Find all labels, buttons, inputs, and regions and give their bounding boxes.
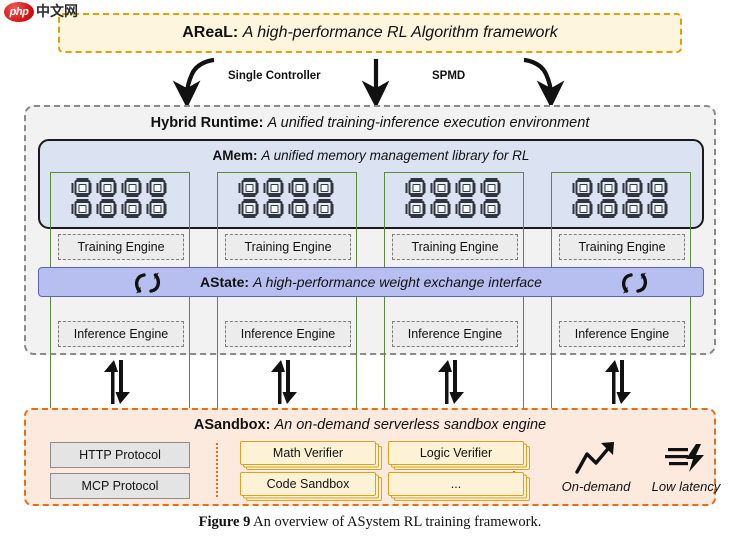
gpu-chip-icon [97, 178, 119, 197]
figure-caption: Figure 9 An overview of ASystem RL train… [0, 514, 740, 531]
on-demand-label: On-demand [548, 479, 644, 494]
amem-desc: A unified memory management library for … [261, 148, 529, 163]
gpu-chip-icon [406, 199, 428, 218]
chip-grid [72, 178, 169, 218]
bidirectional-vertical-arrows-icon [603, 360, 633, 404]
circular-sync-arrows-icon [614, 266, 656, 300]
inference-engine-box: Inference Engine [392, 321, 518, 347]
code-sandbox-label: Code Sandbox [240, 472, 376, 496]
asandbox-box: ASandbox: An on-demand serverless sandbo… [24, 408, 716, 506]
training-engine-box: Training Engine [559, 234, 685, 260]
spmd-label: SPMD [432, 70, 465, 82]
bidirectional-vertical-arrows-icon [269, 360, 299, 404]
gpu-chip-icon [239, 178, 261, 197]
areal-desc: A high-performance RL Algorithm framewor… [243, 24, 558, 41]
astate-desc: A high-performance weight exchange inter… [253, 274, 542, 290]
gpu-chip-icon [72, 199, 94, 218]
areal-framework-box: AReaL: A high-performance RL Algorithm f… [58, 13, 682, 53]
http-protocol-box: HTTP Protocol [50, 442, 190, 468]
site-name-label: 中文网 [36, 5, 78, 19]
gpu-chip-icon [147, 178, 169, 197]
bidirectional-vertical-arrows-icon [102, 360, 132, 404]
chip-grid [406, 178, 503, 218]
areal-name: AReaL: [182, 24, 238, 41]
math-verifier-label: Math Verifier [240, 441, 376, 465]
inference-engine-box: Inference Engine [58, 321, 184, 347]
more-verifiers-card: ... [388, 472, 528, 500]
inference-engine-box: Inference Engine [225, 321, 351, 347]
areal-title: AReaL: A high-performance RL Algorithm f… [182, 24, 558, 42]
gpu-chip-icon [456, 178, 478, 197]
gpu-chip-icon [598, 199, 620, 218]
math-verifier-card: Math Verifier [240, 441, 380, 469]
hybrid-runtime-title: Hybrid Runtime: A unified training-infer… [26, 115, 714, 131]
gpu-chip-icon [72, 178, 94, 197]
training-engine-box: Training Engine [225, 234, 351, 260]
hybrid-runtime-box: Hybrid Runtime: A unified training-infer… [24, 105, 716, 355]
hybrid-runtime-desc: A unified training-inference execution e… [267, 115, 589, 131]
inference-engine-box: Inference Engine [559, 321, 685, 347]
gpu-chip-icon [481, 178, 503, 197]
asandbox-name: ASandbox: [194, 417, 271, 433]
gpu-chip-icon [648, 199, 670, 218]
gpu-chip-icon [314, 199, 336, 218]
gpu-chip-icon [623, 178, 645, 197]
astate-bar: AState: A high-performance weight exchan… [38, 267, 704, 297]
low-latency-label: Low latency [638, 479, 734, 494]
low-latency-feature: Low latency [638, 440, 734, 494]
gpu-chip-icon [289, 178, 311, 197]
gpu-chip-icon [431, 199, 453, 218]
gpu-chip-icon [264, 199, 286, 218]
on-demand-feature: On-demand [548, 440, 644, 494]
bidirectional-vertical-arrows-icon [436, 360, 466, 404]
gpu-chip-icon [573, 178, 595, 197]
code-sandbox-card: Code Sandbox [240, 472, 380, 500]
figure-caption-text: An overview of ASystem RL training frame… [253, 514, 541, 530]
gpu-chip-icon [481, 199, 503, 218]
logic-verifier-label: Logic Verifier [388, 441, 524, 465]
single-controller-label: Single Controller [228, 70, 321, 82]
circular-sync-arrows-icon [127, 266, 169, 300]
gpu-chip-icon [573, 199, 595, 218]
figure-root: php 中文网 AReaL: A high-performance RL Alg… [0, 0, 740, 549]
amem-name: AMem: [213, 148, 258, 163]
gpu-chip-icon [122, 199, 144, 218]
trending-up-arrow-icon [548, 440, 644, 476]
gpu-chip-icon [97, 199, 119, 218]
astate-title: AState: A high-performance weight exchan… [200, 274, 542, 290]
asandbox-title: ASandbox: An on-demand serverless sandbo… [26, 417, 714, 433]
astate-name: AState: [200, 274, 249, 290]
training-engine-box: Training Engine [392, 234, 518, 260]
gpu-chip-icon [122, 178, 144, 197]
mcp-protocol-box: MCP Protocol [50, 473, 190, 499]
curved-arrow-down-left-icon [187, 60, 214, 94]
curved-arrow-down-right-icon [524, 60, 551, 94]
gpu-chip-icon [406, 178, 428, 197]
site-watermark: php 中文网 [4, 2, 78, 22]
chip-grid [239, 178, 336, 218]
amem-title: AMem: A unified memory management librar… [40, 148, 702, 163]
hybrid-runtime-name: Hybrid Runtime: [151, 115, 264, 131]
section-divider-left [216, 443, 218, 497]
logic-verifier-card: Logic Verifier [388, 441, 528, 469]
gpu-chip-icon [289, 199, 311, 218]
gpu-chip-icon [598, 178, 620, 197]
training-engine-box: Training Engine [58, 234, 184, 260]
php-logo-icon: php [4, 2, 34, 22]
gpu-chip-icon [314, 178, 336, 197]
gpu-chip-icon [623, 199, 645, 218]
chip-grid [573, 178, 670, 218]
asandbox-desc: An on-demand serverless sandbox engine [274, 417, 546, 433]
more-verifiers-label: ... [388, 472, 524, 496]
gpu-chip-icon [431, 178, 453, 197]
lightning-bolt-icon [638, 440, 734, 476]
figure-number-label: Figure 9 [199, 514, 251, 530]
connector-arrows-group [0, 52, 740, 108]
gpu-chip-icon [264, 178, 286, 197]
gpu-chip-icon [239, 199, 261, 218]
gpu-chip-icon [648, 178, 670, 197]
gpu-chip-icon [456, 199, 478, 218]
gpu-chip-icon [147, 199, 169, 218]
